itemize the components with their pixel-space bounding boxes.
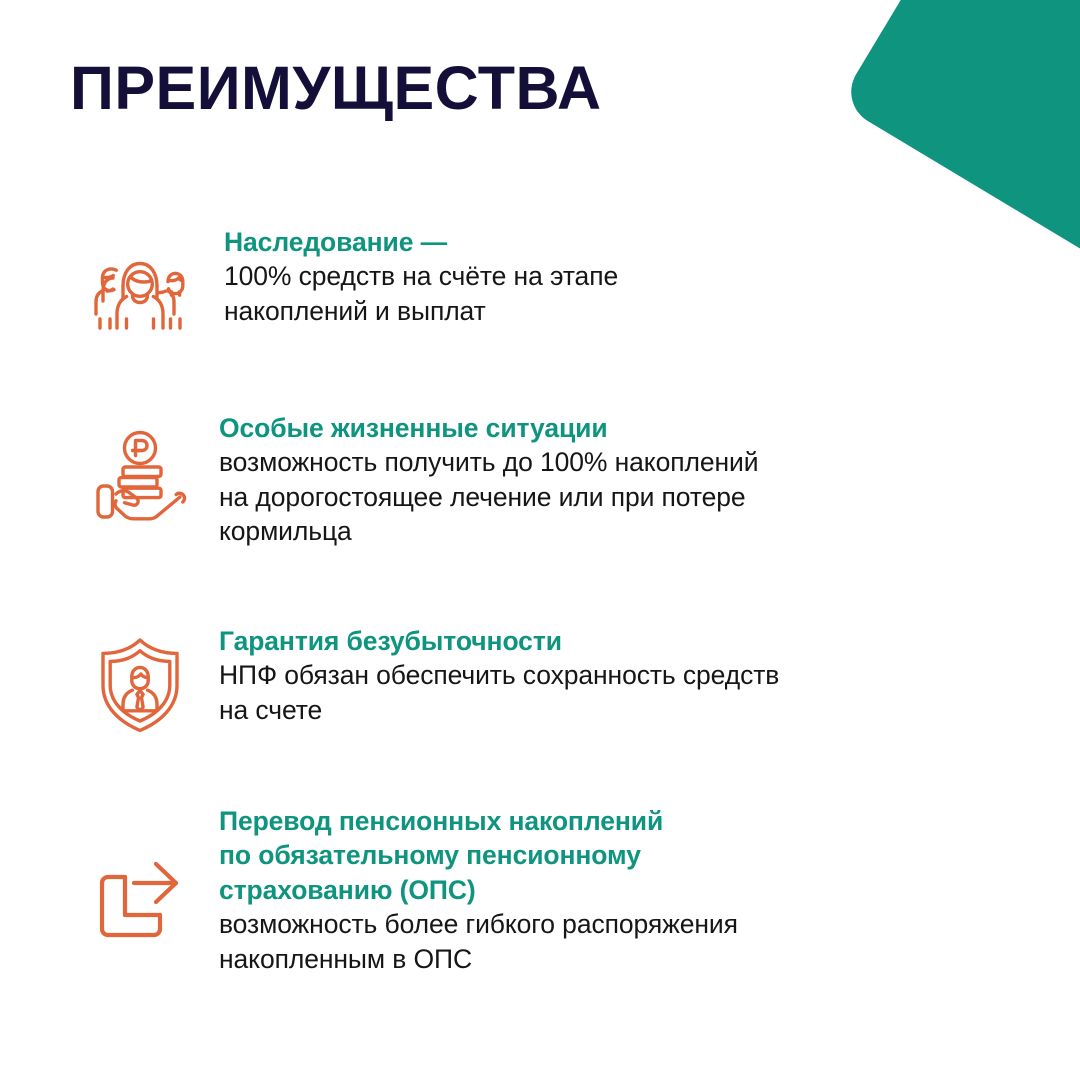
benefit-text-pension-transfer: Перевод пенсионных накоплений по обязате… [195, 804, 1080, 976]
benefit-body-line: накоплений и выплат [224, 294, 1040, 328]
benefit-heading: Особые жизненные ситуации [219, 411, 1040, 445]
benefit-text-break-even-guarantee: Гарантия безубыточности НПФ обязан обесп… [195, 624, 1080, 727]
benefit-heading: Перевод пенсионных накоплений [219, 804, 1040, 838]
benefit-item-inheritance: Наследование — 100% средств на счёте на … [0, 225, 1080, 333]
slide-canvas: ПРЕИМУЩЕСТВА [0, 0, 1080, 1080]
benefit-text-inheritance: Наследование — 100% средств на счёте на … [195, 225, 1080, 328]
benefit-body-line: кормильца [219, 514, 1040, 548]
benefit-body-line: НПФ обязан обеспечить сохранность средст… [219, 658, 1040, 692]
share-export-arrow-icon [85, 804, 195, 945]
shield-person-icon [85, 624, 195, 734]
benefit-item-pension-transfer: Перевод пенсионных накоплений по обязате… [0, 804, 1080, 976]
benefit-heading: по обязательному пенсионному [219, 838, 1040, 872]
page-title: ПРЕИМУЩЕСТВА [70, 56, 602, 120]
benefit-heading: Гарантия безубыточности [219, 624, 1040, 658]
benefit-body-line: на дорогостоящее лечение или при потере [219, 480, 1040, 514]
benefit-item-break-even-guarantee: Гарантия безубыточности НПФ обязан обесп… [0, 624, 1080, 734]
hand-with-coins-icon [85, 411, 195, 528]
benefit-body-line: накопленным в ОПС [219, 942, 1040, 976]
benefit-text-special-life-situations: Особые жизненные ситуации возможность по… [195, 411, 1080, 549]
benefit-item-special-life-situations: Особые жизненные ситуации возможность по… [0, 411, 1080, 549]
benefit-heading: страхованию (ОПС) [219, 873, 1040, 907]
family-icon [85, 225, 195, 333]
benefits-list: Наследование — 100% средств на счёте на … [0, 225, 1080, 976]
benefit-body-line: на счете [219, 693, 1040, 727]
benefit-body-line: возможность более гибкого распоряжения [219, 907, 1040, 941]
benefit-body-line: возможность получить до 100% накоплений [219, 445, 1040, 479]
benefit-heading: Наследование — [224, 225, 1040, 259]
benefit-body-line: 100% средств на счёте на этапе [224, 259, 1040, 293]
